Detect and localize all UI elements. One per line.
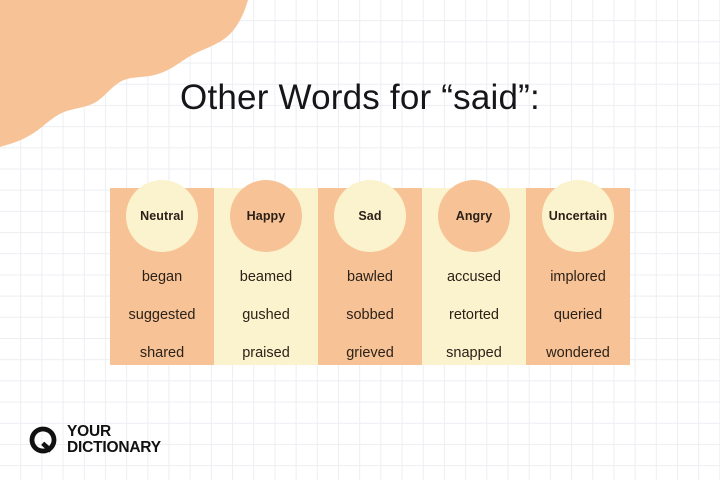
word-item: gushed — [214, 296, 318, 334]
word-item: sobbed — [318, 296, 422, 334]
word-list: imploredqueriedwondered — [526, 258, 630, 372]
category-bubble: Uncertain — [542, 180, 614, 252]
word-item: wondered — [526, 334, 630, 372]
word-list: bawledsobbedgrieved — [318, 258, 422, 372]
category-column: Happybeamedgushedpraised — [214, 188, 318, 365]
brand-logo-line2: DICTIONARY — [67, 440, 161, 456]
category-bubble: Angry — [438, 180, 510, 252]
word-item: bawled — [318, 258, 422, 296]
category-label: Uncertain — [549, 209, 608, 223]
yourdictionary-logo-icon — [28, 425, 58, 455]
infographic-canvas: Other Words for “said”: Neutralbegansugg… — [0, 0, 720, 480]
category-column: Neutralbegansuggestedshared — [110, 188, 214, 365]
word-item: began — [110, 258, 214, 296]
word-item: shared — [110, 334, 214, 372]
page-title: Other Words for “said”: — [0, 78, 720, 118]
category-column: Angryaccusedretortedsnapped — [422, 188, 526, 365]
category-label: Happy — [247, 209, 286, 223]
brand-logo-line1: YOUR — [67, 424, 161, 440]
category-label: Neutral — [140, 209, 184, 223]
word-item: snapped — [422, 334, 526, 372]
word-item: grieved — [318, 334, 422, 372]
word-item: beamed — [214, 258, 318, 296]
word-item: suggested — [110, 296, 214, 334]
word-list: beamedgushedpraised — [214, 258, 318, 372]
category-bubble: Sad — [334, 180, 406, 252]
category-bubble: Neutral — [126, 180, 198, 252]
category-label: Sad — [358, 209, 381, 223]
synonyms-table: NeutralbegansuggestedsharedHappybeamedgu… — [110, 188, 630, 365]
word-item: implored — [526, 258, 630, 296]
word-item: retorted — [422, 296, 526, 334]
decorative-blob — [0, 0, 300, 150]
word-item: praised — [214, 334, 318, 372]
brand-logo: YOUR DICTIONARY — [28, 424, 161, 455]
word-item: queried — [526, 296, 630, 334]
category-label: Angry — [456, 209, 493, 223]
word-list: accusedretortedsnapped — [422, 258, 526, 372]
category-bubble: Happy — [230, 180, 302, 252]
category-column: Uncertainimploredqueriedwondered — [526, 188, 630, 365]
category-column: Sadbawledsobbedgrieved — [318, 188, 422, 365]
word-list: begansuggestedshared — [110, 258, 214, 372]
word-item: accused — [422, 258, 526, 296]
brand-logo-text: YOUR DICTIONARY — [67, 424, 161, 455]
